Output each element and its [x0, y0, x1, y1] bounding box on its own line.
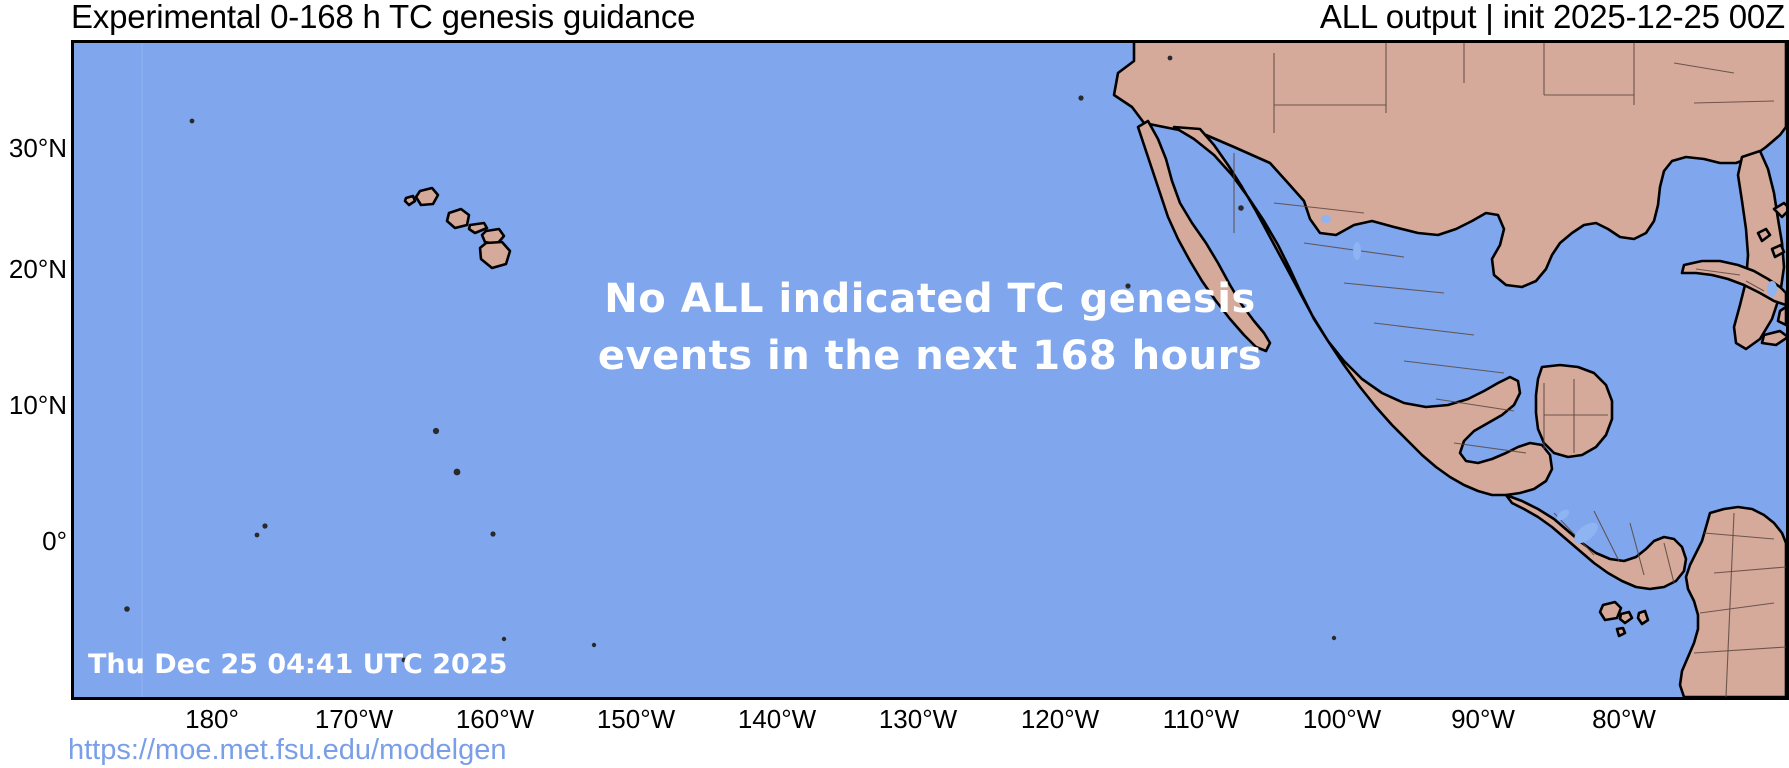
island-dot: [1078, 95, 1083, 100]
island-dot: [1168, 56, 1173, 61]
x-tick-label: 120°W: [1021, 706, 1099, 732]
island-dot: [190, 119, 195, 124]
x-tick-label: 80°W: [1592, 706, 1656, 732]
x-tick-label: 130°W: [879, 706, 957, 732]
island-dot: [1238, 205, 1244, 211]
y-tick-label: 0°: [0, 528, 67, 554]
x-tick-label: 110°W: [1163, 706, 1239, 732]
timestamp-label: Thu Dec 25 04:41 UTC 2025: [88, 649, 507, 680]
island-dot: [454, 469, 461, 476]
x-tick-label: 100°W: [1303, 706, 1381, 732]
hawaii-oahu: [447, 209, 469, 228]
page-subtitle-init: ALL output | init 2025-12-25 00Z: [1320, 0, 1785, 36]
y-tick-label: 20°N: [0, 256, 67, 282]
island-dot: [592, 643, 596, 647]
island-dot: [124, 606, 130, 612]
island-dot: [433, 428, 439, 434]
map-plot-area[interactable]: No ALL indicated TC genesis events in th…: [71, 40, 1789, 700]
x-tick-label: 140°W: [738, 706, 816, 732]
lake-okeechobee: [1767, 281, 1777, 297]
x-tick-label: 90°W: [1451, 706, 1515, 732]
source-url-link[interactable]: https://moe.met.fsu.edu/modelgen: [68, 734, 506, 767]
island-dot: [262, 523, 267, 528]
island-dot: [502, 637, 506, 641]
reservoir: [1353, 242, 1361, 260]
x-tick-label: 150°W: [597, 706, 675, 732]
genesis-guidance-figure: Experimental 0-168 h TC genesis guidance…: [0, 0, 1789, 768]
y-tick-label: 10°N: [0, 392, 67, 418]
island-dot: [490, 531, 495, 536]
reservoir: [1321, 215, 1331, 223]
y-tick-label: 30°N: [0, 135, 67, 161]
island-dot: [1332, 636, 1336, 640]
x-tick-label: 170°W: [315, 706, 393, 732]
x-tick-label: 180°: [185, 706, 239, 732]
island-dot: [255, 533, 260, 538]
hawaii-kauai: [416, 188, 438, 205]
island-dot: [1125, 283, 1130, 288]
page-title: Experimental 0-168 h TC genesis guidance: [71, 0, 695, 36]
x-tick-label: 160°W: [456, 706, 534, 732]
world-map-svg: [74, 43, 1786, 697]
